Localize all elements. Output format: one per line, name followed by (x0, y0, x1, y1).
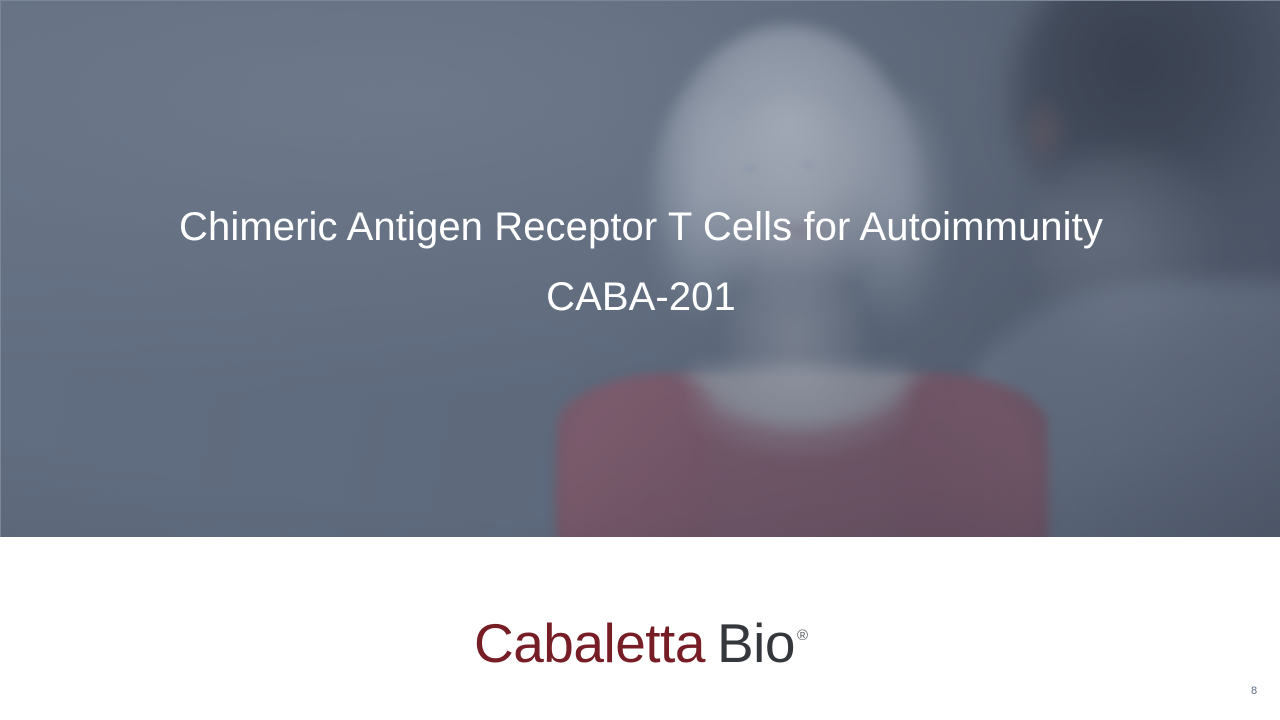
page-number: 8 (1240, 685, 1268, 697)
cabaletta-bio-logo: CabalettaBio® (0, 614, 1280, 672)
registered-trademark-icon: ® (797, 627, 808, 644)
logo-wordmark-primary: Cabaletta (474, 614, 705, 672)
footer: CabalettaBio® (0, 537, 1280, 720)
title-block: Chimeric Antigen Receptor T Cells for Au… (1, 193, 1280, 333)
slide: Chimeric Antigen Receptor T Cells for Au… (0, 0, 1280, 720)
logo-wordmark-secondary: Bio (717, 614, 795, 672)
hero-image-band: Chimeric Antigen Receptor T Cells for Au… (0, 0, 1280, 537)
slide-title: Chimeric Antigen Receptor T Cells for Au… (1, 193, 1280, 261)
slide-subtitle: CABA-201 (1, 261, 1280, 333)
